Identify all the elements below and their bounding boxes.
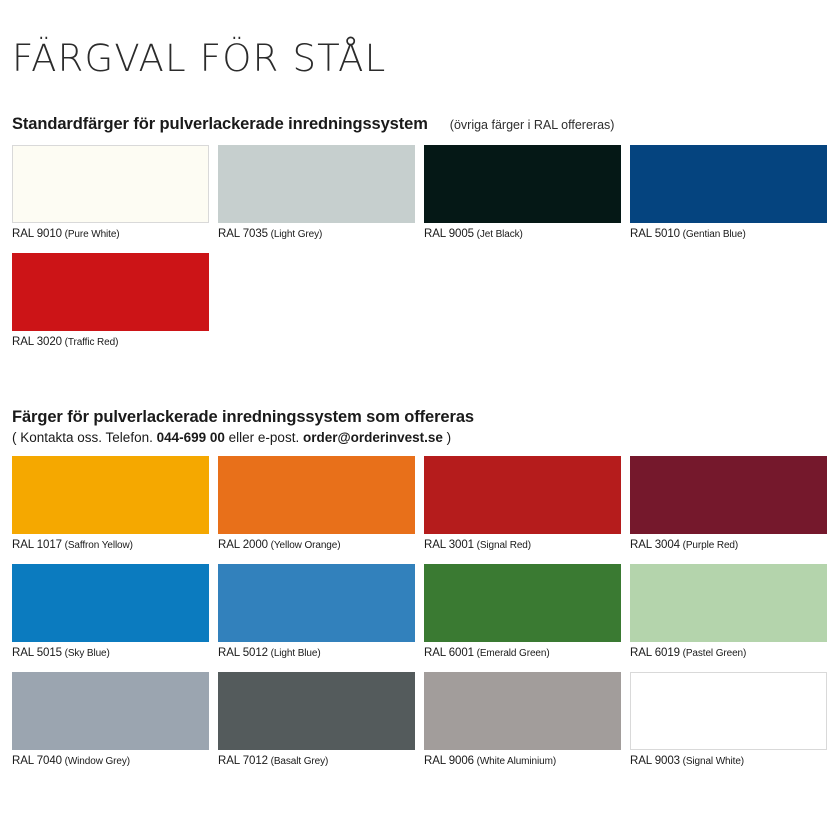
swatch-ral-code: RAL 5012 <box>218 647 268 659</box>
swatch-label: RAL 7040 (Window Grey) <box>12 750 209 780</box>
swatch-color-name: (Traffic Red) <box>62 337 118 348</box>
swatch-cell[interactable]: RAL 9006 (White Aluminium) <box>424 672 621 780</box>
swatch-cell[interactable]: RAL 5015 (Sky Blue) <box>12 564 209 672</box>
swatch-cell[interactable]: RAL 7012 (Basalt Grey) <box>218 672 415 780</box>
swatch-label: RAL 3001 (Signal Red) <box>424 534 621 564</box>
contact-middle: eller e-post. <box>225 430 303 445</box>
color-swatch[interactable] <box>630 564 827 642</box>
swatch-ral-code: RAL 6001 <box>424 647 474 659</box>
swatch-ral-code: RAL 3020 <box>12 336 62 348</box>
swatch-cell[interactable]: RAL 6001 (Emerald Green) <box>424 564 621 672</box>
swatch-cell[interactable]: RAL 6019 (Pastel Green) <box>630 564 827 672</box>
swatch-label: RAL 7012 (Basalt Grey) <box>218 750 415 780</box>
section-standard-colors: Standardfärger för pulverlackerade inred… <box>12 77 828 361</box>
section-offered-title: Färger för pulverlackerade inredningssys… <box>12 408 474 427</box>
swatch-label: RAL 7035 (Light Grey) <box>218 223 415 253</box>
swatch-cell[interactable]: RAL 1017 (Saffron Yellow) <box>12 456 209 564</box>
contact-prefix: ( Kontakta oss. Telefon. <box>12 430 157 445</box>
swatch-cell[interactable]: RAL 9003 (Signal White) <box>630 672 827 780</box>
swatch-color-name: (Purple Red) <box>680 540 738 551</box>
swatch-cell[interactable]: RAL 3001 (Signal Red) <box>424 456 621 564</box>
swatch-ral-code: RAL 5010 <box>630 228 680 240</box>
color-swatch[interactable] <box>218 672 415 750</box>
page-title: FÄRGVAL FÖR STÅL <box>12 0 828 77</box>
swatch-ral-code: RAL 5015 <box>12 647 62 659</box>
swatch-cell[interactable]: RAL 3004 (Purple Red) <box>630 456 827 564</box>
swatch-color-name: (Jet Black) <box>474 229 523 240</box>
contact-suffix: ) <box>443 430 451 445</box>
color-swatch[interactable] <box>218 564 415 642</box>
swatch-cell[interactable]: RAL 5010 (Gentian Blue) <box>630 145 827 253</box>
color-swatch[interactable] <box>12 672 209 750</box>
swatch-label: RAL 9003 (Signal White) <box>630 750 827 780</box>
color-swatch[interactable] <box>424 456 621 534</box>
swatch-label: RAL 9010 (Pure White) <box>12 223 209 253</box>
swatch-ral-code: RAL 7035 <box>218 228 268 240</box>
swatch-cell[interactable]: RAL 7035 (Light Grey) <box>218 145 415 253</box>
swatch-label: RAL 5012 (Light Blue) <box>218 642 415 672</box>
swatch-label: RAL 5010 (Gentian Blue) <box>630 223 827 253</box>
swatch-grid-standard: RAL 9010 (Pure White)RAL 7035 (Light Gre… <box>12 145 828 361</box>
color-swatch[interactable] <box>12 564 209 642</box>
color-swatch[interactable] <box>218 145 415 223</box>
swatch-label: RAL 6001 (Emerald Green) <box>424 642 621 672</box>
swatch-ral-code: RAL 7040 <box>12 755 62 767</box>
swatch-ral-code: RAL 7012 <box>218 755 268 767</box>
swatch-label: RAL 3020 (Traffic Red) <box>12 331 209 361</box>
swatch-label: RAL 6019 (Pastel Green) <box>630 642 827 672</box>
contact-email[interactable]: order@orderinvest.se <box>303 430 443 445</box>
color-swatch[interactable] <box>12 456 209 534</box>
swatch-cell[interactable]: RAL 3020 (Traffic Red) <box>12 253 209 361</box>
swatch-cell[interactable]: RAL 2000 (Yellow Orange) <box>218 456 415 564</box>
swatch-ral-code: RAL 6019 <box>630 647 680 659</box>
section-standard-note: (övriga färger i RAL offereras) <box>450 118 615 132</box>
contact-line: ( Kontakta oss. Telefon. 044-699 00 elle… <box>12 430 828 445</box>
color-swatch[interactable] <box>630 456 827 534</box>
swatch-label: RAL 2000 (Yellow Orange) <box>218 534 415 564</box>
color-selection-page: FÄRGVAL FÖR STÅL Standardfärger för pulv… <box>0 0 840 840</box>
swatch-label: RAL 9006 (White Aluminium) <box>424 750 621 780</box>
swatch-color-name: (Basalt Grey) <box>268 756 328 767</box>
swatch-color-name: (Window Grey) <box>62 756 130 767</box>
swatch-color-name: (Light Blue) <box>268 648 321 659</box>
color-swatch[interactable] <box>630 145 827 223</box>
swatch-ral-code: RAL 9003 <box>630 755 680 767</box>
color-swatch[interactable] <box>218 456 415 534</box>
section-offered-colors: Färger för pulverlackerade inredningssys… <box>12 361 828 780</box>
swatch-color-name: (Signal White) <box>680 756 744 767</box>
color-swatch[interactable] <box>12 253 209 331</box>
swatch-ral-code: RAL 9010 <box>12 228 62 240</box>
section-standard-header: Standardfärger för pulverlackerade inred… <box>12 115 828 134</box>
swatch-color-name: (Light Grey) <box>268 229 322 240</box>
swatch-cell[interactable]: RAL 9010 (Pure White) <box>12 145 209 253</box>
swatch-color-name: (White Aluminium) <box>474 756 556 767</box>
swatch-color-name: (Yellow Orange) <box>268 540 341 551</box>
swatch-cell[interactable]: RAL 7040 (Window Grey) <box>12 672 209 780</box>
color-swatch[interactable] <box>12 145 209 223</box>
section-standard-title: Standardfärger för pulverlackerade inred… <box>12 115 428 134</box>
swatch-color-name: (Pastel Green) <box>680 648 746 659</box>
color-swatch[interactable] <box>424 672 621 750</box>
swatch-label: RAL 9005 (Jet Black) <box>424 223 621 253</box>
swatch-color-name: (Sky Blue) <box>62 648 110 659</box>
color-swatch[interactable] <box>424 564 621 642</box>
swatch-grid-offered: RAL 1017 (Saffron Yellow)RAL 2000 (Yello… <box>12 456 828 780</box>
contact-phone[interactable]: 044-699 00 <box>157 430 225 445</box>
swatch-label: RAL 3004 (Purple Red) <box>630 534 827 564</box>
swatch-ral-code: RAL 9006 <box>424 755 474 767</box>
swatch-ral-code: RAL 9005 <box>424 228 474 240</box>
swatch-cell[interactable]: RAL 5012 (Light Blue) <box>218 564 415 672</box>
swatch-color-name: (Saffron Yellow) <box>62 540 133 551</box>
swatch-ral-code: RAL 2000 <box>218 539 268 551</box>
color-swatch[interactable] <box>630 672 827 750</box>
swatch-color-name: (Signal Red) <box>474 540 531 551</box>
swatch-ral-code: RAL 3004 <box>630 539 680 551</box>
swatch-ral-code: RAL 3001 <box>424 539 474 551</box>
swatch-cell[interactable]: RAL 9005 (Jet Black) <box>424 145 621 253</box>
swatch-color-name: (Gentian Blue) <box>680 229 746 240</box>
section-offered-header: Färger för pulverlackerade inredningssys… <box>12 408 828 427</box>
swatch-label: RAL 5015 (Sky Blue) <box>12 642 209 672</box>
swatch-ral-code: RAL 1017 <box>12 539 62 551</box>
swatch-label: RAL 1017 (Saffron Yellow) <box>12 534 209 564</box>
swatch-color-name: (Pure White) <box>62 229 120 240</box>
swatch-color-name: (Emerald Green) <box>474 648 550 659</box>
color-swatch[interactable] <box>424 145 621 223</box>
